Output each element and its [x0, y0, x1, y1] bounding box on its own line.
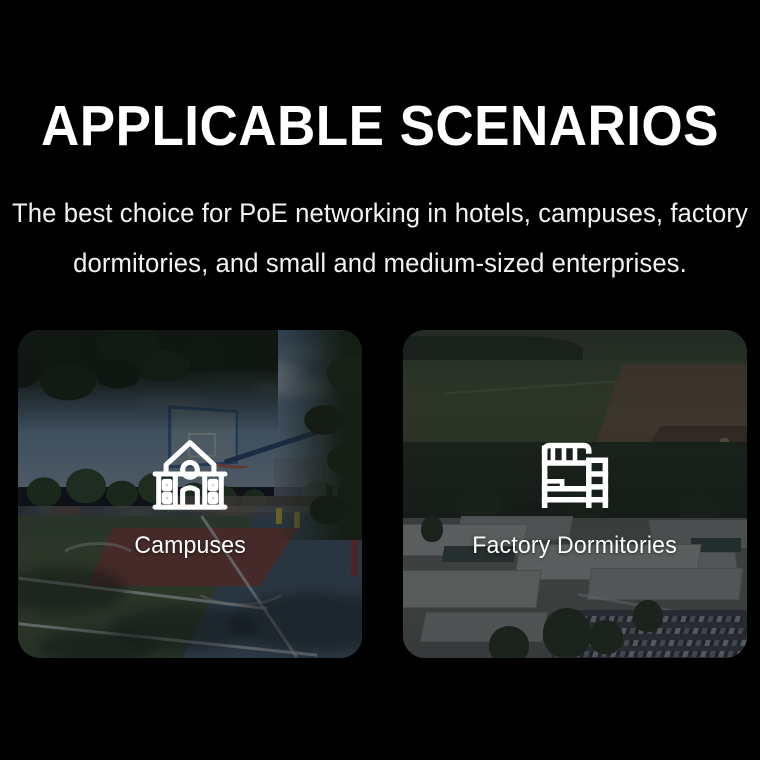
campuses-content: Campuses: [18, 330, 362, 658]
page-subtitle-text: The best choice for PoE networking in ho…: [0, 188, 760, 288]
heading-block: APPLICABLE SCENARIOS The best choice for…: [0, 0, 760, 300]
page-subtitle: The best choice for PoE networking in ho…: [0, 188, 760, 288]
bunk-bed-icon: [529, 428, 621, 520]
page-title-text: APPLICABLE SCENARIOS: [41, 95, 719, 157]
card-label-campuses: Campuses: [132, 532, 248, 560]
scenarios-section: APPLICABLE SCENARIOS The best choice for…: [0, 0, 760, 760]
school-building-icon: [144, 428, 236, 520]
card-label-factory-dormitories: Factory Dormitories: [468, 532, 681, 560]
page-title: APPLICABLE SCENARIOS: [16, 95, 745, 157]
scenario-card-factory-dormitories[interactable]: Factory Dormitories: [403, 330, 747, 658]
factory-dormitories-content: Factory Dormitories: [403, 330, 747, 658]
scenario-card-list: Campuses: [18, 330, 745, 658]
scenario-card-campuses[interactable]: Campuses: [18, 330, 362, 658]
